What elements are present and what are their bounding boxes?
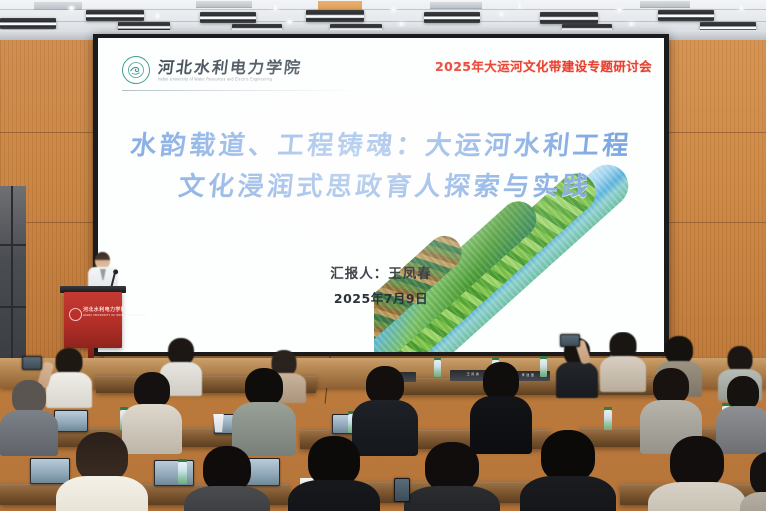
ceiling-downlight	[398, 22, 405, 26]
person-head	[750, 452, 766, 496]
person-torso	[740, 492, 766, 511]
person-torso	[556, 362, 598, 398]
person-head	[541, 430, 595, 482]
doorway-mullion	[0, 244, 26, 246]
ceiling-downlight	[738, 6, 745, 10]
person-head	[665, 336, 693, 364]
audience-person	[0, 380, 58, 450]
wall-seam	[662, 132, 766, 133]
person-torso	[0, 410, 58, 456]
person-head	[366, 366, 404, 404]
person-head	[76, 432, 128, 482]
slide-date: 2025年7月9日	[98, 288, 664, 307]
ceiling-light-fixture	[540, 12, 598, 24]
person-head	[425, 442, 479, 492]
person-head	[670, 436, 724, 488]
person-head	[483, 362, 519, 400]
ceiling-downlight	[154, 14, 161, 18]
ceiling-downlight	[616, 8, 623, 12]
water-ripple-emblem-icon	[122, 56, 150, 84]
audience-person	[648, 436, 746, 511]
person-head	[245, 368, 283, 406]
audience-person	[740, 452, 766, 511]
person-torso	[520, 476, 616, 511]
podium-institution-cn: 河北水利电力学院	[83, 307, 126, 313]
smartphone	[560, 334, 580, 347]
person-head	[308, 436, 360, 486]
wall-seam	[0, 132, 104, 133]
ceiling-panel-line	[0, 21, 766, 22]
person-head	[12, 380, 46, 414]
audience-person	[288, 436, 380, 511]
slide-logo-text: 河北水利电力学院 Hebei University of Water Resou…	[158, 60, 302, 81]
smartphone[interactable]	[394, 478, 410, 502]
person-head	[727, 376, 759, 410]
ceiling-downlight	[68, 6, 75, 10]
slide-presenter-block: 汇报人：王凤春 2025年7月9日	[98, 260, 664, 307]
logo-institution-cn: 河北水利电力学院	[157, 60, 303, 76]
conference-photo-scene: 河北水利电力学院 Hebei University of Water Resou…	[0, 0, 766, 511]
person-head	[134, 372, 170, 408]
audience-person	[232, 368, 296, 452]
audience-person	[56, 432, 148, 511]
slide-title: 水韵载道、工程铸魂：大运河水利工程 文化浸润式思政育人探索与实践	[98, 126, 664, 208]
ceiling-light-fixture	[306, 10, 364, 22]
smartphone	[22, 356, 42, 370]
audience-person	[404, 442, 500, 511]
slide-title-line-2: 文化浸润式思政育人探索与实践	[98, 167, 664, 208]
ceiling-downlight	[390, 8, 397, 12]
wall-seam	[662, 222, 766, 223]
ceiling-duct	[640, 1, 690, 8]
ceiling-downlight	[628, 22, 635, 26]
doorway-mullion	[0, 306, 26, 308]
logo-institution-en: Hebei University of Water Resources and …	[158, 76, 302, 81]
audience-person	[184, 446, 270, 511]
audience-area: 王 凤 春 李 建 国 张 志 远	[0, 332, 766, 511]
slide-title-line-1: 水韵载道、工程铸魂：大运河水利工程	[98, 126, 664, 167]
podium-institution-text: 河北水利电力学院 HEBEI UNIVERSITY OF WATER RESOU…	[83, 308, 146, 319]
conference-banner-title: 2025年大运河文化带建设专题研讨会	[435, 56, 652, 75]
ceiling-light-fixture	[0, 18, 56, 29]
ceiling-light-fixture	[86, 10, 144, 21]
audience-person	[520, 430, 616, 511]
slide-presenter: 汇报人：王凤春	[98, 260, 664, 288]
ceiling-downlight	[286, 20, 293, 24]
ceiling-downlight	[498, 12, 505, 16]
person-torso	[404, 486, 500, 511]
person-torso	[184, 486, 270, 511]
person-torso	[648, 482, 746, 511]
water-bottle	[540, 359, 547, 377]
ceiling-light-fixture	[200, 12, 256, 23]
university-seal-icon	[69, 308, 82, 321]
person-torso	[56, 476, 148, 511]
wood-wall-panel-right	[662, 36, 766, 366]
water-bottle	[434, 360, 441, 377]
water-bottle	[604, 410, 612, 430]
person-head	[56, 348, 83, 375]
ceiling-light-fixture	[658, 10, 714, 21]
ceiling-duct	[196, 1, 252, 8]
ceiling-amber-panel	[318, 1, 362, 10]
ceiling-downlight	[272, 6, 279, 10]
logo-divider	[122, 90, 362, 91]
podium-institution-en: HEBEI UNIVERSITY OF WATER RESOURCES	[83, 314, 146, 317]
ceiling-duct	[430, 2, 482, 9]
person-torso	[288, 480, 380, 511]
projection-screen[interactable]: 河北水利电力学院 Hebei University of Water Resou…	[98, 38, 664, 352]
laptop[interactable]	[54, 410, 88, 432]
slide-logo: 河北水利电力学院 Hebei University of Water Resou…	[122, 56, 302, 84]
person-head	[610, 332, 637, 359]
ceiling-light-fixture	[424, 12, 480, 23]
person-head	[653, 368, 689, 404]
ceiling-downlight	[516, 4, 523, 8]
ceiling-duct	[34, 2, 82, 10]
person-head	[168, 338, 194, 365]
